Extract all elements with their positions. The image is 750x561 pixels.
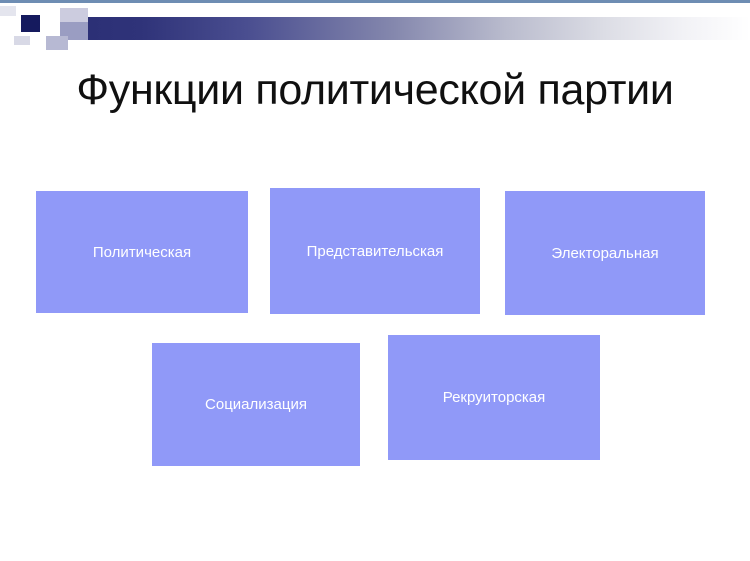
decorative-square-light — [60, 8, 88, 22]
function-box-label: Рекруиторская — [443, 389, 546, 406]
function-box-label: Социализация — [205, 396, 307, 413]
header-decoration — [0, 3, 750, 45]
function-box-socializaciya: Социализация — [152, 343, 360, 466]
function-box-label: Электоральная — [551, 245, 658, 262]
decorative-square-pale — [0, 6, 16, 16]
function-box-label: Представительская — [307, 243, 444, 260]
presentation-slide: Функции политической партии Политическая… — [0, 0, 750, 561]
function-box-politicheskaya: Политическая — [36, 191, 248, 313]
decorative-square-navy — [21, 15, 40, 32]
page-title: Функции политической партии — [0, 62, 750, 118]
function-box-predstavitelskaya: Представительская — [270, 188, 480, 314]
decorative-square-faint — [14, 36, 30, 45]
header-gradient-bar — [88, 17, 750, 40]
function-box-elektoralnaya: Электоральная — [505, 191, 705, 315]
function-box-rekruitorskaya: Рекруиторская — [388, 335, 600, 460]
decorative-square-mid — [46, 36, 68, 50]
function-box-label: Политическая — [93, 244, 191, 261]
